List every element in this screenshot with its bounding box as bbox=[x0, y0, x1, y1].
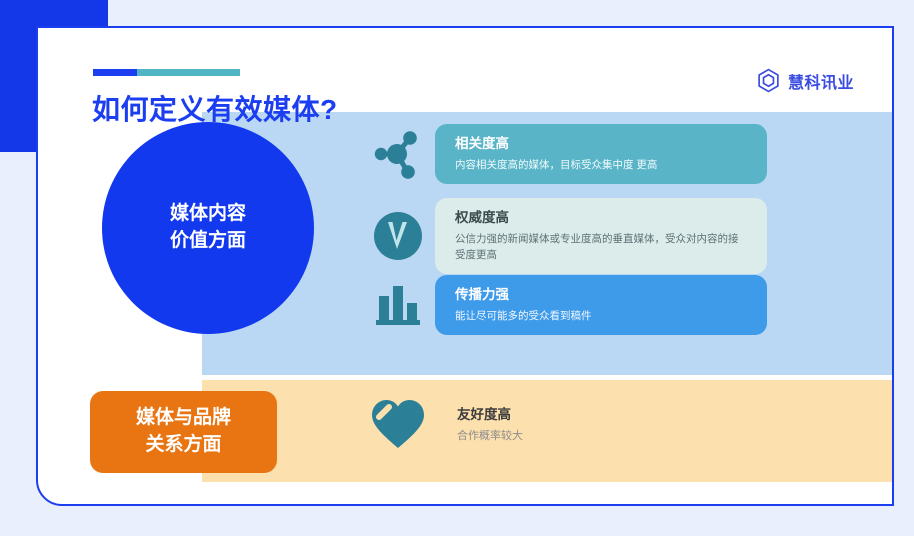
category-content-value: 媒体内容 价值方面 bbox=[102, 122, 314, 334]
feature-title: 传播力强 bbox=[455, 286, 747, 305]
category-label-line1: 媒体与品牌 bbox=[136, 405, 231, 432]
feature-row-friendliness: 友好度高 合作概率较大 bbox=[361, 395, 767, 456]
category-label-line2: 关系方面 bbox=[145, 432, 221, 459]
feature-card-relevance: 相关度高 内容相关度高的媒体，目标受众集中度 更高 bbox=[435, 124, 767, 184]
network-share-icon bbox=[361, 126, 435, 182]
feature-card-authority: 权威度高 公信力强的新闻媒体或专业度高的垂直媒体，受众对内容的接受度更高 bbox=[435, 198, 767, 274]
brand-logo: 慧科讯业 bbox=[756, 68, 854, 93]
category-brand-relation: 媒体与品牌 关系方面 bbox=[90, 391, 277, 473]
verified-v-badge-icon bbox=[361, 209, 435, 263]
category-label-line2: 价值方面 bbox=[170, 228, 246, 255]
brand-logo-text: 慧科讯业 bbox=[788, 69, 854, 93]
feature-card-reach: 传播力强 能让尽可能多的受众看到稿件 bbox=[435, 275, 767, 335]
feature-row-relevance: 相关度高 内容相关度高的媒体，目标受众集中度 更高 bbox=[361, 124, 767, 184]
card-corner-mask bbox=[38, 28, 78, 68]
feature-row-authority: 权威度高 公信力强的新闻媒体或专业度高的垂直媒体，受众对内容的接受度更高 bbox=[361, 198, 767, 274]
feature-title: 友好度高 bbox=[457, 406, 747, 425]
feature-desc: 内容相关度高的媒体，目标受众集中度 更高 bbox=[455, 157, 747, 173]
accent-bar-teal bbox=[137, 69, 240, 76]
slide-card: 如何定义有效媒体? 慧科讯业 媒体内容 价值方面 媒体与品牌 关系方面 bbox=[36, 26, 894, 506]
heart-icon bbox=[361, 398, 435, 452]
feature-desc: 公信力强的新闻媒体或专业度高的垂直媒体，受众对内容的接受度更高 bbox=[455, 231, 747, 264]
hexagon-logo-icon bbox=[756, 68, 781, 93]
feature-desc: 能让尽可能多的受众看到稿件 bbox=[455, 308, 747, 324]
feature-card-friendliness: 友好度高 合作概率较大 bbox=[435, 395, 767, 456]
feature-title: 权威度高 bbox=[455, 209, 747, 228]
category-label-line1: 媒体内容 bbox=[170, 201, 246, 228]
accent-bar-blue bbox=[93, 69, 137, 76]
feature-desc: 合作概率较大 bbox=[457, 428, 747, 445]
feature-row-reach: 传播力强 能让尽可能多的受众看到稿件 bbox=[361, 275, 767, 335]
feature-title: 相关度高 bbox=[455, 135, 747, 154]
bar-chart-icon bbox=[361, 278, 435, 332]
title-accent-bars bbox=[93, 69, 240, 76]
